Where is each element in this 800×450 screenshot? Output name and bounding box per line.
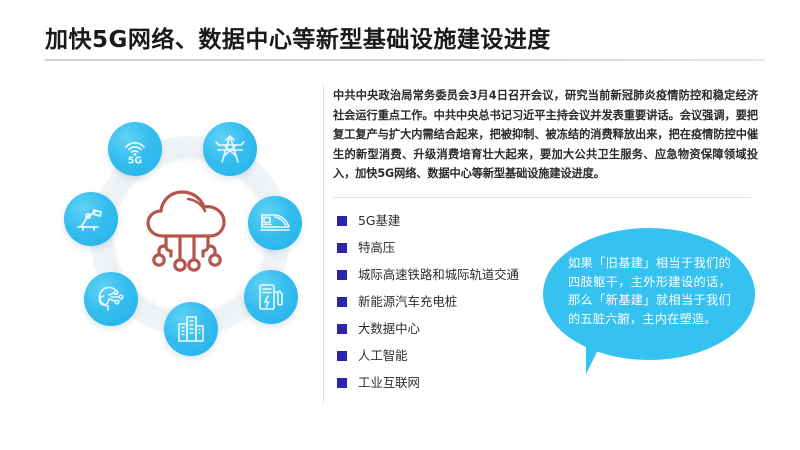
svg-text:5G: 5G	[128, 156, 143, 167]
bullet-marker-icon	[337, 243, 347, 253]
bullet-marker-icon	[337, 297, 347, 307]
ev-charging-pile-icon	[254, 280, 288, 314]
title-divider	[45, 59, 765, 61]
body-paragraph: 中共中央政治局常务委员会3月4日召开会议，研究当前新冠肺炎疫情防控和稳定经济社会…	[333, 86, 758, 184]
node-data-center	[164, 302, 218, 356]
ai-head-icon	[94, 282, 128, 316]
node-high-speed-train	[248, 196, 302, 250]
slide-canvas: 加快5G网络、数据中心等新型基础设施建设进度 5G	[0, 0, 800, 450]
bullet-marker-icon	[337, 216, 347, 226]
node-5g-signal: 5G	[108, 122, 162, 176]
bullet-marker-icon	[337, 351, 347, 361]
node-power-tower	[203, 122, 257, 176]
list-item-label: 城际高速铁路和城际轨道交通	[358, 267, 519, 283]
infrastructure-illustration: 5G	[58, 106, 323, 376]
high-speed-train-icon	[258, 206, 292, 240]
list-item-label: 人工智能	[358, 348, 408, 364]
list-item-label: 工业互联网	[358, 375, 420, 391]
bullet-marker-icon	[337, 378, 347, 388]
bullet-marker-icon	[337, 270, 347, 280]
node-robot-arm	[64, 192, 118, 246]
list-item-label: 特高压	[358, 240, 395, 256]
power-tower-icon	[213, 132, 247, 166]
speech-bubble-text: 如果「旧基建」相当于我们的四肢躯干，主外形建设的话，那么「新基建」就相当于我们的…	[568, 254, 731, 328]
title-block: 加快5G网络、数据中心等新型基础设施建设进度	[45, 26, 765, 61]
cloud-network-icon	[136, 178, 248, 290]
data-center-buildings-icon	[174, 312, 208, 346]
list-item-label: 大数据中心	[358, 321, 420, 337]
5g-signal-icon: 5G	[118, 132, 152, 166]
node-ev-charging-pile	[244, 270, 298, 324]
list-item-label: 新能源汽车充电桩	[358, 294, 457, 310]
page-title: 加快5G网络、数据中心等新型基础设施建设进度	[45, 26, 765, 54]
paragraph-divider	[333, 197, 751, 198]
bullet-marker-icon	[337, 324, 347, 334]
robot-arm-icon	[74, 202, 108, 236]
speech-bubble: 如果「旧基建」相当于我们的四肢躯干，主外形建设的话，那么「新基建」就相当于我们的…	[543, 228, 755, 370]
list-item-label: 5G基建	[358, 213, 400, 229]
node-ai-head	[84, 272, 138, 326]
